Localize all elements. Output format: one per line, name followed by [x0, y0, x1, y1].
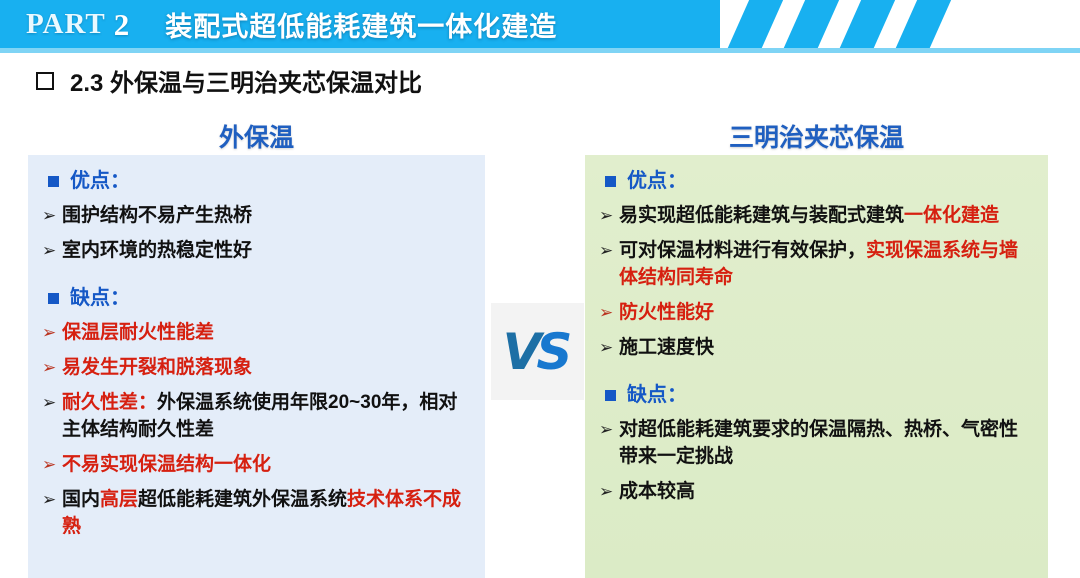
square-bullet-icon: [605, 176, 616, 187]
header-stripe-1: [722, 0, 789, 48]
arrow-bullet-icon: ➢: [599, 418, 619, 442]
vs-letter-v: V: [503, 323, 539, 381]
text-run-black: 室内环境的热稳定性好: [62, 240, 252, 261]
header-stripe-3: [834, 0, 901, 48]
text-run-black: 超低能耗建筑外保温系统: [138, 489, 347, 510]
text-run-red: 易发生开裂和脱落现象: [62, 357, 252, 378]
list-item-text: 室内环境的热稳定性好: [62, 238, 471, 265]
arrow-bullet-icon: ➢: [599, 480, 619, 504]
group-spacer: [42, 273, 471, 286]
list-item-text: 对超低能耗建筑要求的保温隔热、热桥、气密性带来一定挑战: [619, 417, 1034, 471]
square-bullet-icon: [48, 293, 59, 304]
arrow-bullet-icon: ➢: [42, 356, 62, 380]
group-heading-text: 缺点：: [70, 286, 130, 311]
vs-letter-s: S: [536, 323, 572, 381]
text-run-red: 保温层耐火性能差: [62, 322, 214, 343]
group-heading-left-0: 优点：: [42, 169, 471, 194]
group-heading-right-0: 优点：: [599, 169, 1034, 194]
text-run-red: 高层: [100, 489, 138, 510]
list-item-text: 国内高层超低能耗建筑外保温系统技术体系不成熟: [62, 487, 471, 541]
header-title: PART 2 装配式超低能耗建筑一体化建造: [26, 1, 557, 48]
text-run-black: 施工速度快: [619, 337, 714, 358]
header-stripe-4: [890, 0, 957, 48]
header-stripe-2: [778, 0, 845, 48]
header-stripe-decoration: [720, 0, 1080, 48]
list-item-text: 可对保温材料进行有效保护，实现保温系统与墙体结构同寿命: [619, 238, 1034, 292]
list-item: ➢易实现超低能耗建筑与装配式建筑一体化建造: [599, 203, 1034, 230]
header-part-label: PART: [26, 8, 106, 41]
list-item-text: 易实现超低能耗建筑与装配式建筑一体化建造: [619, 203, 1034, 230]
arrow-bullet-icon: ➢: [599, 336, 619, 360]
group-heading-text: 缺点：: [627, 383, 687, 408]
list-item: ➢对超低能耗建筑要求的保温隔热、热桥、气密性带来一定挑战: [599, 417, 1034, 471]
arrow-bullet-icon: ➢: [42, 321, 62, 345]
text-run-black: 对超低能耗建筑要求的保温隔热、热桥、气密性带来一定挑战: [619, 419, 1018, 467]
list-item-text: 保温层耐火性能差: [62, 320, 471, 347]
list-item: ➢保温层耐火性能差: [42, 320, 471, 347]
list-item: ➢防火性能好: [599, 300, 1034, 327]
list-item-text: 易发生开裂和脱落现象: [62, 355, 471, 382]
header-title-chinese: 装配式超低能耗建筑一体化建造: [165, 5, 557, 44]
group-heading-text: 优点：: [627, 169, 687, 194]
arrow-bullet-icon: ➢: [42, 204, 62, 228]
list-item: ➢不易实现保温结构一体化: [42, 452, 471, 479]
section-heading-text: 2.3 外保温与三明治夹芯保温对比: [70, 63, 422, 98]
text-run-black: 易实现超低能耗建筑与装配式建筑: [619, 205, 904, 226]
group-heading-right-1: 缺点：: [599, 383, 1034, 408]
column-title-left: 外保温: [28, 118, 485, 154]
list-item: ➢室内环境的热稳定性好: [42, 238, 471, 265]
empty-square-icon: [36, 72, 54, 90]
list-item: ➢可对保温材料进行有效保护，实现保温系统与墙体结构同寿命: [599, 238, 1034, 292]
group-spacer: [599, 370, 1034, 383]
group-heading-text: 优点：: [70, 169, 130, 194]
comparison-panel-left: 优点：➢围护结构不易产生热桥➢室内环境的热稳定性好缺点：➢保温层耐火性能差➢易发…: [28, 155, 485, 578]
header-part-number: 2: [114, 7, 130, 43]
list-item-text: 施工速度快: [619, 335, 1034, 362]
list-item: ➢耐久性差：外保温系统使用年限20~30年，相对主体结构耐久性差: [42, 390, 471, 444]
list-item: ➢围护结构不易产生热桥: [42, 203, 471, 230]
text-run-black: 围护结构不易产生热桥: [62, 205, 252, 226]
list-item-text: 耐久性差：外保温系统使用年限20~30年，相对主体结构耐久性差: [62, 390, 471, 444]
arrow-bullet-icon: ➢: [42, 239, 62, 263]
list-item: ➢易发生开裂和脱落现象: [42, 355, 471, 382]
arrow-bullet-icon: ➢: [42, 453, 62, 477]
text-run-red: 一体化建造: [904, 205, 999, 226]
list-item-text: 围护结构不易产生热桥: [62, 203, 471, 230]
arrow-bullet-icon: ➢: [599, 239, 619, 263]
text-run-red: 耐久性差：: [62, 392, 157, 413]
list-item: ➢施工速度快: [599, 335, 1034, 362]
vs-badge: V S: [491, 303, 584, 400]
square-bullet-icon: [48, 176, 59, 187]
arrow-bullet-icon: ➢: [599, 204, 619, 228]
arrow-bullet-icon: ➢: [599, 301, 619, 325]
group-heading-left-1: 缺点：: [42, 286, 471, 311]
text-run-black: 可对保温材料进行有效保护，: [619, 240, 866, 261]
text-run-red: 不易实现保温结构一体化: [62, 454, 271, 475]
text-run-red: 防火性能好: [619, 302, 714, 323]
arrow-bullet-icon: ➢: [42, 391, 62, 415]
text-run-black: 成本较高: [619, 481, 695, 502]
square-bullet-icon: [605, 390, 616, 401]
page-title: 2.3 外保温与三明治夹芯保温对比: [36, 63, 422, 98]
header-underline: [0, 48, 1080, 53]
list-item-text: 不易实现保温结构一体化: [62, 452, 471, 479]
list-item: ➢国内高层超低能耗建筑外保温系统技术体系不成熟: [42, 487, 471, 541]
arrow-bullet-icon: ➢: [42, 488, 62, 512]
list-item: ➢成本较高: [599, 479, 1034, 506]
comparison-panel-right: 优点：➢易实现超低能耗建筑与装配式建筑一体化建造➢可对保温材料进行有效保护，实现…: [585, 155, 1048, 578]
header-bar: PART 2 装配式超低能耗建筑一体化建造: [0, 0, 1080, 48]
list-item-text: 防火性能好: [619, 300, 1034, 327]
list-item-text: 成本较高: [619, 479, 1034, 506]
column-title-right: 三明治夹芯保温: [585, 118, 1048, 154]
text-run-black: 国内: [62, 489, 100, 510]
